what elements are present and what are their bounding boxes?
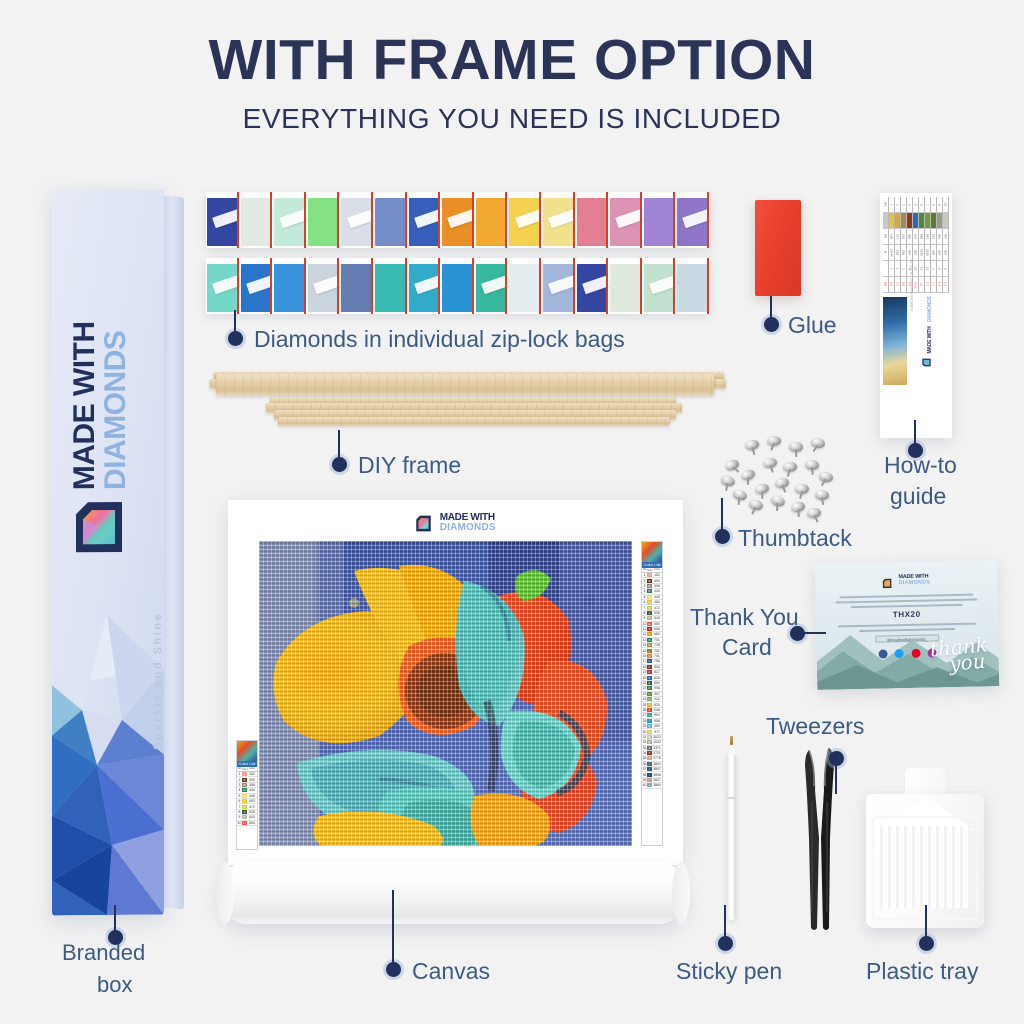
thumbtack <box>744 439 760 452</box>
color-row-code: 972 <box>652 730 662 734</box>
color-row-code: 535 <box>247 810 257 814</box>
page-title: WITH FRAME OPTION <box>0 32 1024 89</box>
branded-box-image: MADE WITH DIAMONDS <box>52 190 184 916</box>
facebook-icon <box>878 650 887 659</box>
callout-label-howto-line1: How-to <box>884 452 957 479</box>
color-row-code: 817 <box>652 670 662 674</box>
color-row-code: 954 <box>652 713 662 717</box>
callout-line-canvas <box>392 890 394 966</box>
thumbtack <box>762 457 778 469</box>
color-row-code: 796 <box>652 659 662 663</box>
box-brand-line2: DIAMONDS <box>99 321 133 490</box>
ziplock-bag <box>408 258 442 314</box>
callout-line-tweezers <box>835 758 837 794</box>
diy-frame-image <box>208 370 728 432</box>
ziplock-bag <box>441 192 475 248</box>
thumbtack <box>783 462 798 473</box>
color-row-code: 358 <box>247 783 257 787</box>
color-row-code: 543 <box>652 616 662 620</box>
ziplock-bag <box>576 192 610 248</box>
color-row-code: 358 <box>652 584 662 588</box>
howto-brand-line2: DIAMONDS <box>927 296 933 322</box>
ziplock-bag <box>508 192 542 248</box>
ziplock-bag <box>475 258 509 314</box>
color-row-code: 472 <box>247 805 257 809</box>
color-row-code: 3371 <box>652 746 662 750</box>
color-row-code: 912 <box>652 697 662 701</box>
ziplock-bag-row-1 <box>206 192 710 248</box>
card-message-line3 <box>851 604 963 609</box>
box-tagline: Sparkle and Shine <box>152 612 164 750</box>
callout-label-thankyou-line2: Card <box>722 634 772 661</box>
howto-brand-line1: MADE WITH <box>927 326 933 353</box>
ziplock-bag <box>408 192 442 248</box>
callout-label-diy-frame: DIY frame <box>358 452 461 479</box>
thumbtack <box>805 460 820 471</box>
color-row-code: 300 <box>652 579 662 583</box>
callout-label-thankyou-line1: Thank You <box>690 604 799 631</box>
thumbtack <box>720 474 736 487</box>
thumbtack <box>774 477 789 489</box>
callout-line-plastic-tray <box>925 905 927 939</box>
ziplock-bag <box>609 192 643 248</box>
ziplock-bag <box>374 192 408 248</box>
polygon-svg <box>52 615 164 916</box>
card-message-line2 <box>835 598 977 604</box>
page-subtitle: EVERYTHING YOU NEED IS INCLUDED <box>0 103 1024 135</box>
callout-line-thankyou <box>798 632 826 634</box>
color-list-rows: 1I1522B3003W3584R4345S4456O4537P4728A535… <box>642 573 662 789</box>
callout-label-plastic-tray: Plastic tray <box>866 958 978 985</box>
color-row-code: 445 <box>652 595 662 599</box>
thumbtack <box>789 442 803 452</box>
canvas-brand-logo: MADE WITH DIAMONDS <box>228 513 683 533</box>
box-front-face: MADE WITH DIAMONDS <box>52 190 164 916</box>
color-row-code: 453 <box>652 600 662 604</box>
color-row-code: 550 <box>247 821 257 825</box>
box-brand-line1: MADE WITH <box>68 321 102 490</box>
product-infographic: WITH FRAME OPTION EVERYTHING YOU NEED IS… <box>0 0 1024 1024</box>
card-brand-logo: MADE WITH DIAMONDS <box>815 569 997 591</box>
howto-sample-photo <box>883 297 907 385</box>
color-row-code: 732 <box>652 649 662 653</box>
box-polygon-pattern <box>52 615 164 916</box>
glue-image <box>755 200 801 296</box>
thumbtack <box>795 484 809 494</box>
box-brand-text: MADE WITH DIAMONDS <box>52 190 164 521</box>
ziplock-bag <box>206 192 240 248</box>
card-thank-you-script: thank you <box>929 636 990 673</box>
frame-slat <box>278 417 670 426</box>
color-row-code: 3860 <box>652 783 662 787</box>
thumbtack <box>754 482 770 495</box>
color-row-code: 300 <box>247 778 257 782</box>
card-message-line4 <box>838 622 976 627</box>
ziplock-bag <box>240 192 274 248</box>
ziplock-bag <box>307 258 341 314</box>
thumbtack <box>790 500 806 513</box>
ziplock-bag <box>609 258 643 314</box>
ziplock-bag <box>475 192 509 248</box>
thumbtack-image <box>715 432 837 518</box>
color-row-code: 834 <box>652 665 662 669</box>
callout-label-glue: Glue <box>788 312 837 339</box>
howto-guide-image: NO.DBBM2 116813/4410.3 237112911.1 31501… <box>880 193 952 438</box>
callout-label-howto-line2: guide <box>890 483 946 510</box>
pinterest-icon <box>911 649 920 658</box>
color-row-code: 472 <box>652 606 662 610</box>
color-row-code: 920 <box>652 703 662 707</box>
color-row-code: 907 <box>652 692 662 696</box>
color-row-code: 959 <box>652 724 662 728</box>
canvas-roll-image <box>218 862 688 924</box>
ziplock-bag <box>643 192 677 248</box>
card-script-line2: you <box>949 653 987 672</box>
color-list-panel-bottom-left: Color List NoSymColor 1I1522B3003W3584R4… <box>236 740 258 850</box>
color-row-code: 3802 <box>652 762 662 766</box>
callout-line-branded-box <box>114 905 116 933</box>
callout-label-ziplock: Diamonds in individual zip-lock bags <box>254 326 625 353</box>
color-row-code: 825 <box>652 676 662 680</box>
color-row-code: 3032 <box>652 740 662 744</box>
canvas-brand-line2: DIAMONDS <box>440 523 496 533</box>
color-row-code: 890 <box>652 681 662 685</box>
sticky-pen-image <box>723 735 739 920</box>
ziplock-bag <box>542 192 576 248</box>
card-logo-icon <box>882 575 892 585</box>
color-row-code: 3807 <box>652 767 662 771</box>
callout-label-sticky-pen: Sticky pen <box>676 958 782 985</box>
color-list-rows: 1I1522B3003W3584R4345S4456O4537P4728A535… <box>237 772 257 826</box>
ziplock-bag <box>542 258 576 314</box>
card-message-line1 <box>839 593 973 598</box>
color-row-code: 152 <box>247 772 257 776</box>
color-row-code: 701 <box>652 638 662 642</box>
color-row-code: 606 <box>652 627 662 631</box>
thumbtack <box>724 458 741 472</box>
color-list-row: 40~3860 <box>642 783 662 788</box>
color-row-code: 434 <box>247 788 257 792</box>
frame-slat <box>216 374 714 396</box>
canvas-artwork-mosaic <box>259 541 632 846</box>
callout-label-canvas: Canvas <box>412 958 490 985</box>
thumbtack <box>770 494 786 508</box>
color-panel-thumbnail <box>642 542 662 562</box>
ziplock-bag <box>676 258 710 314</box>
color-row-code: 3023 <box>652 735 662 739</box>
ziplock-bag <box>576 258 610 314</box>
card-message-line5 <box>859 628 955 633</box>
ziplock-bag <box>240 258 274 314</box>
card-brand-line2: DIAMONDS <box>899 579 931 586</box>
color-row-code: 680 <box>652 632 662 636</box>
callout-line-thumbtack <box>721 498 723 532</box>
color-row-code: 741 <box>652 654 662 658</box>
box-side-face <box>164 196 184 909</box>
callout-label-tweezers: Tweezers <box>766 713 864 740</box>
color-row-code: 445 <box>247 794 257 798</box>
card-promo-code: THX20 <box>836 608 978 620</box>
box-logo-icon <box>72 500 126 554</box>
color-row-code: 3776 <box>652 756 662 760</box>
callout-line-ziplock <box>234 310 236 334</box>
color-row-code: 543 <box>247 815 257 819</box>
color-row-code: 958 <box>652 719 662 723</box>
ziplock-bag <box>508 258 542 314</box>
color-row-code: 434 <box>652 589 662 593</box>
ziplock-bag <box>206 258 240 314</box>
color-row-code: 906 <box>652 686 662 690</box>
callout-line-sticky-pen <box>724 905 726 939</box>
thumbtack <box>806 507 821 519</box>
ziplock-bag-row-2 <box>206 258 710 314</box>
callout-label-branded-box-line2: box <box>97 972 132 998</box>
thumbtack <box>810 437 825 449</box>
thumbtack <box>732 488 748 502</box>
ziplock-bag <box>273 258 307 314</box>
color-row-code: 946 <box>652 708 662 712</box>
color-row-code: 3721 <box>652 751 662 755</box>
canvas-logo-icon <box>415 515 432 532</box>
ziplock-bag <box>273 192 307 248</box>
thumbtack <box>815 489 830 500</box>
color-row-code: 550 <box>652 622 662 626</box>
callout-label-thumbtack: Thumbtack <box>738 525 852 552</box>
color-row-code: 3827 <box>652 778 662 782</box>
color-row-code: 152 <box>652 573 662 577</box>
color-list-row: 10H550 <box>237 821 257 826</box>
ziplock-bag <box>441 258 475 314</box>
mosaic-drill-grid <box>259 541 632 846</box>
howto-color-table: NO.DBBM2 116813/4410.3 237112911.1 31501… <box>883 197 949 293</box>
ziplock-bag <box>340 192 374 248</box>
ziplock-bag <box>643 258 677 314</box>
thumbtack <box>767 435 782 446</box>
ziplock-bag <box>307 192 341 248</box>
twitter-icon <box>895 650 904 659</box>
thank-you-card-image: MADE WITH DIAMONDS THX20 @madewithdiamon… <box>815 560 1000 690</box>
color-row-code: 453 <box>247 799 257 803</box>
ziplock-bag <box>676 192 710 248</box>
color-list-panel-top-right: Color List NoSymColor 1I1522B3003W3584R4… <box>641 541 663 846</box>
ziplock-bag <box>340 258 374 314</box>
ziplock-bag <box>374 258 408 314</box>
tweezers-image <box>803 742 839 934</box>
howto-brand-logo: MADE WITH DIAMONDS <box>918 311 946 367</box>
callout-line-glue <box>770 296 772 320</box>
callout-line-diy-frame <box>338 430 340 460</box>
callout-label-branded-box-line1: Branded <box>62 940 145 966</box>
color-row-code: 728 <box>652 643 662 647</box>
color-row-code: 3808 <box>652 773 662 777</box>
canvas-image: MADE WITH DIAMONDS <box>228 500 683 865</box>
tweezers-svg <box>803 742 839 934</box>
plastic-tray-image <box>866 768 984 928</box>
howto-side-note: DIAMOND PAINTING - GUIDE TO <box>910 259 914 311</box>
thumbtack <box>818 471 834 483</box>
color-row-code: 535 <box>652 611 662 615</box>
callout-line-howto <box>914 420 916 446</box>
thumbtack <box>748 499 764 512</box>
color-panel-thumbnail <box>237 741 257 761</box>
thumbtack <box>740 468 756 482</box>
